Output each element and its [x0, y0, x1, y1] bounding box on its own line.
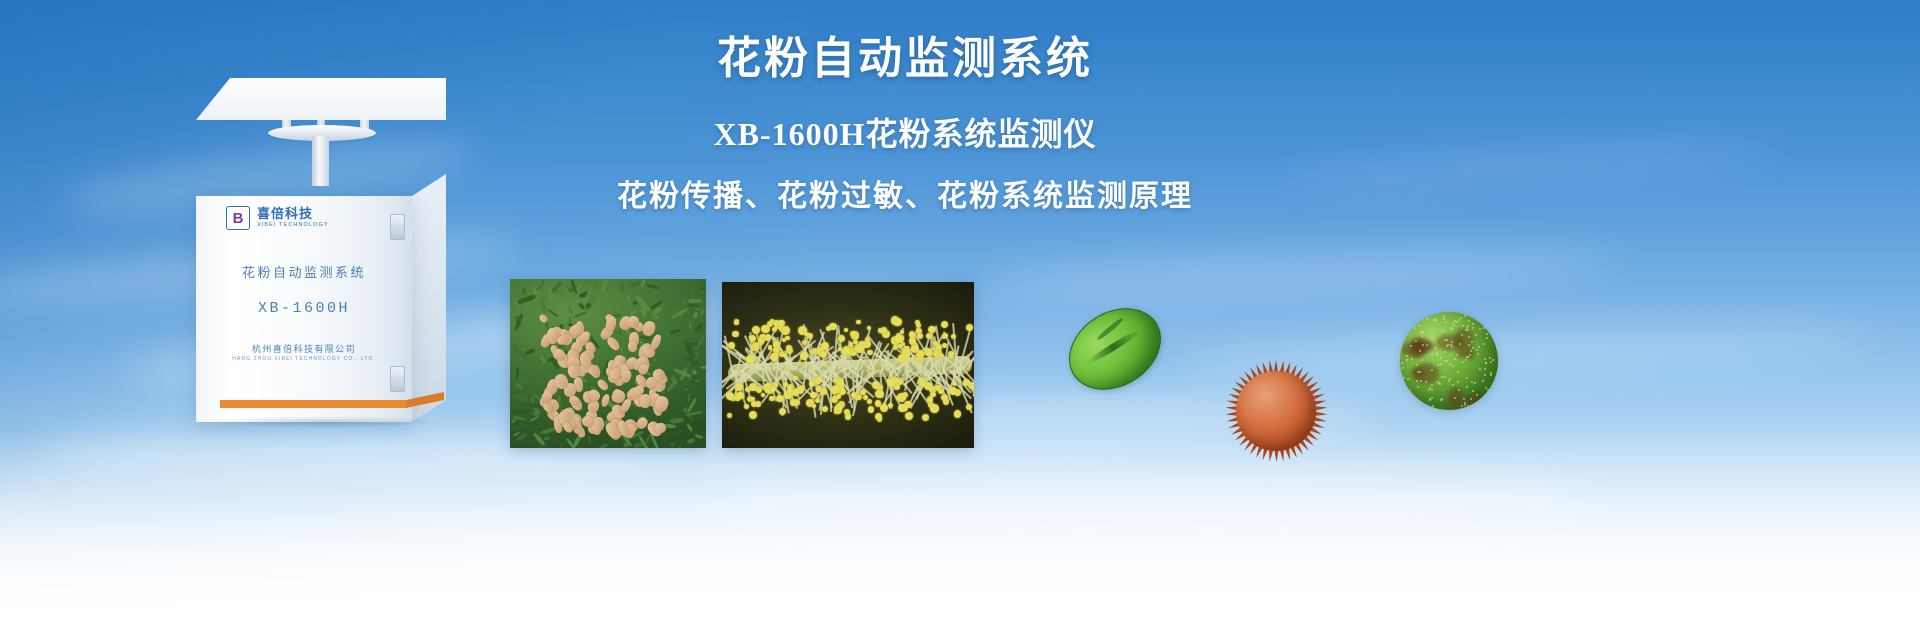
device-right-side-panel	[412, 174, 446, 422]
pollen-core	[1236, 371, 1316, 451]
brand-name-cn: 喜倍科技	[257, 207, 329, 221]
device-company-cn: 杭州喜倍科技有限公司	[196, 342, 412, 355]
brand-text: 喜倍科技 XIBEI TECHNOLOGY	[257, 207, 329, 228]
device-latch-icon	[390, 214, 405, 240]
device-accent-stripe	[220, 400, 406, 408]
device-product-name: 花粉自动监测系统	[196, 262, 412, 281]
device-ground-shadow	[206, 416, 446, 428]
device-brand-logo: B 喜倍科技 XIBEI TECHNOLOGY	[226, 206, 329, 230]
device-sampling-neck	[312, 136, 329, 186]
pollen-grain-red-spiky	[1225, 360, 1327, 462]
pollen-monitoring-banner: 花粉自动监测系统 XB-1600H花粉系统监测仪 花粉传播、花粉过敏、花粉系统监…	[0, 0, 1920, 619]
device-top-panel	[196, 78, 446, 120]
photo-cypress-pollen-cones	[510, 279, 706, 448]
subtitle-topics: 花粉传播、花粉过敏、花粉系统监测原理	[585, 179, 1225, 215]
headline-block: 花粉自动监测系统 XB-1600H花粉系统监测仪 花粉传播、花粉过敏、花粉系统监…	[585, 34, 1225, 215]
monitoring-device-illustration: B 喜倍科技 XIBEI TECHNOLOGY 花粉自动监测系统 XB-1600…	[196, 78, 446, 428]
photo-catkin-anthers	[722, 282, 974, 448]
device-model-number: XB-1600H	[196, 300, 412, 317]
brand-name-en: XIBEI TECHNOLOGY	[257, 223, 329, 229]
device-latch-icon	[390, 366, 405, 392]
horizon-haze	[0, 429, 1920, 619]
xibei-logo-icon: B	[226, 206, 250, 230]
page-title: 花粉自动监测系统	[585, 34, 1225, 85]
device-company-en: HANG ZHOU XIBEI TECHNOLOGY CO., LTD.	[196, 356, 412, 362]
subtitle-model: XB-1600H花粉系统监测仪	[585, 115, 1225, 153]
pollen-grain-green-sphere	[1400, 312, 1498, 410]
logo-glyph: B	[233, 211, 244, 226]
